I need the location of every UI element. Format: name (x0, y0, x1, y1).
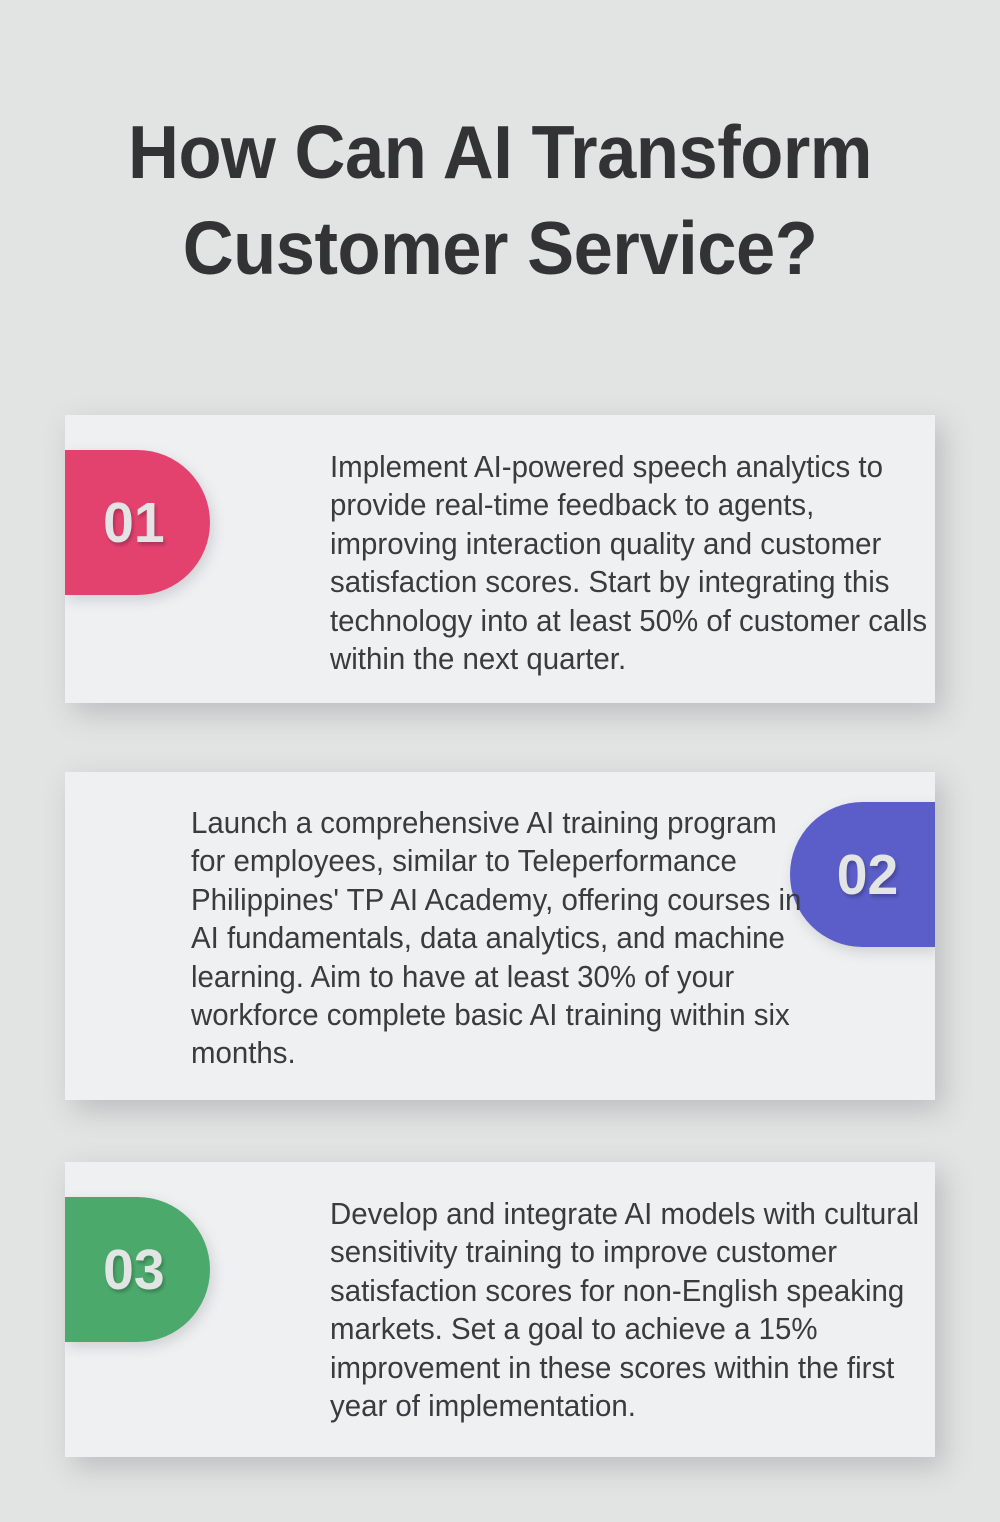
card-1-inner: 01 Implement AI-powered speech analytics… (65, 415, 935, 703)
card-2-inner: 02 Launch a comprehensive AI training pr… (65, 772, 935, 1100)
step-number-badge-3: 03 (65, 1197, 210, 1342)
recommendation-card-1: 01 Implement AI-powered speech analytics… (65, 415, 935, 703)
card-3-body-text: Develop and integrate AI models with cul… (330, 1195, 933, 1425)
step-number-badge-1: 01 (65, 450, 210, 595)
card-2-body-text: Launch a comprehensive AI training progr… (191, 804, 809, 1073)
page-title-line-2: Customer Service? (86, 200, 913, 296)
card-1-body-text: Implement AI-powered speech analytics to… (330, 448, 928, 678)
recommendation-card-2: 02 Launch a comprehensive AI training pr… (65, 772, 935, 1100)
step-number-label-1: 01 (103, 490, 172, 556)
page-title: How Can AI Transform Customer Service? (0, 104, 1000, 296)
step-number-badge-2: 02 (790, 802, 935, 947)
step-number-label-2: 02 (827, 842, 898, 908)
recommendation-card-3: 03 Develop and integrate AI models with … (65, 1162, 935, 1457)
step-number-label-3: 03 (103, 1237, 172, 1303)
card-3-inner: 03 Develop and integrate AI models with … (65, 1162, 935, 1457)
page-title-line-1: How Can AI Transform (86, 104, 913, 200)
infographic-page: How Can AI Transform Customer Service? 0… (0, 0, 1000, 1522)
